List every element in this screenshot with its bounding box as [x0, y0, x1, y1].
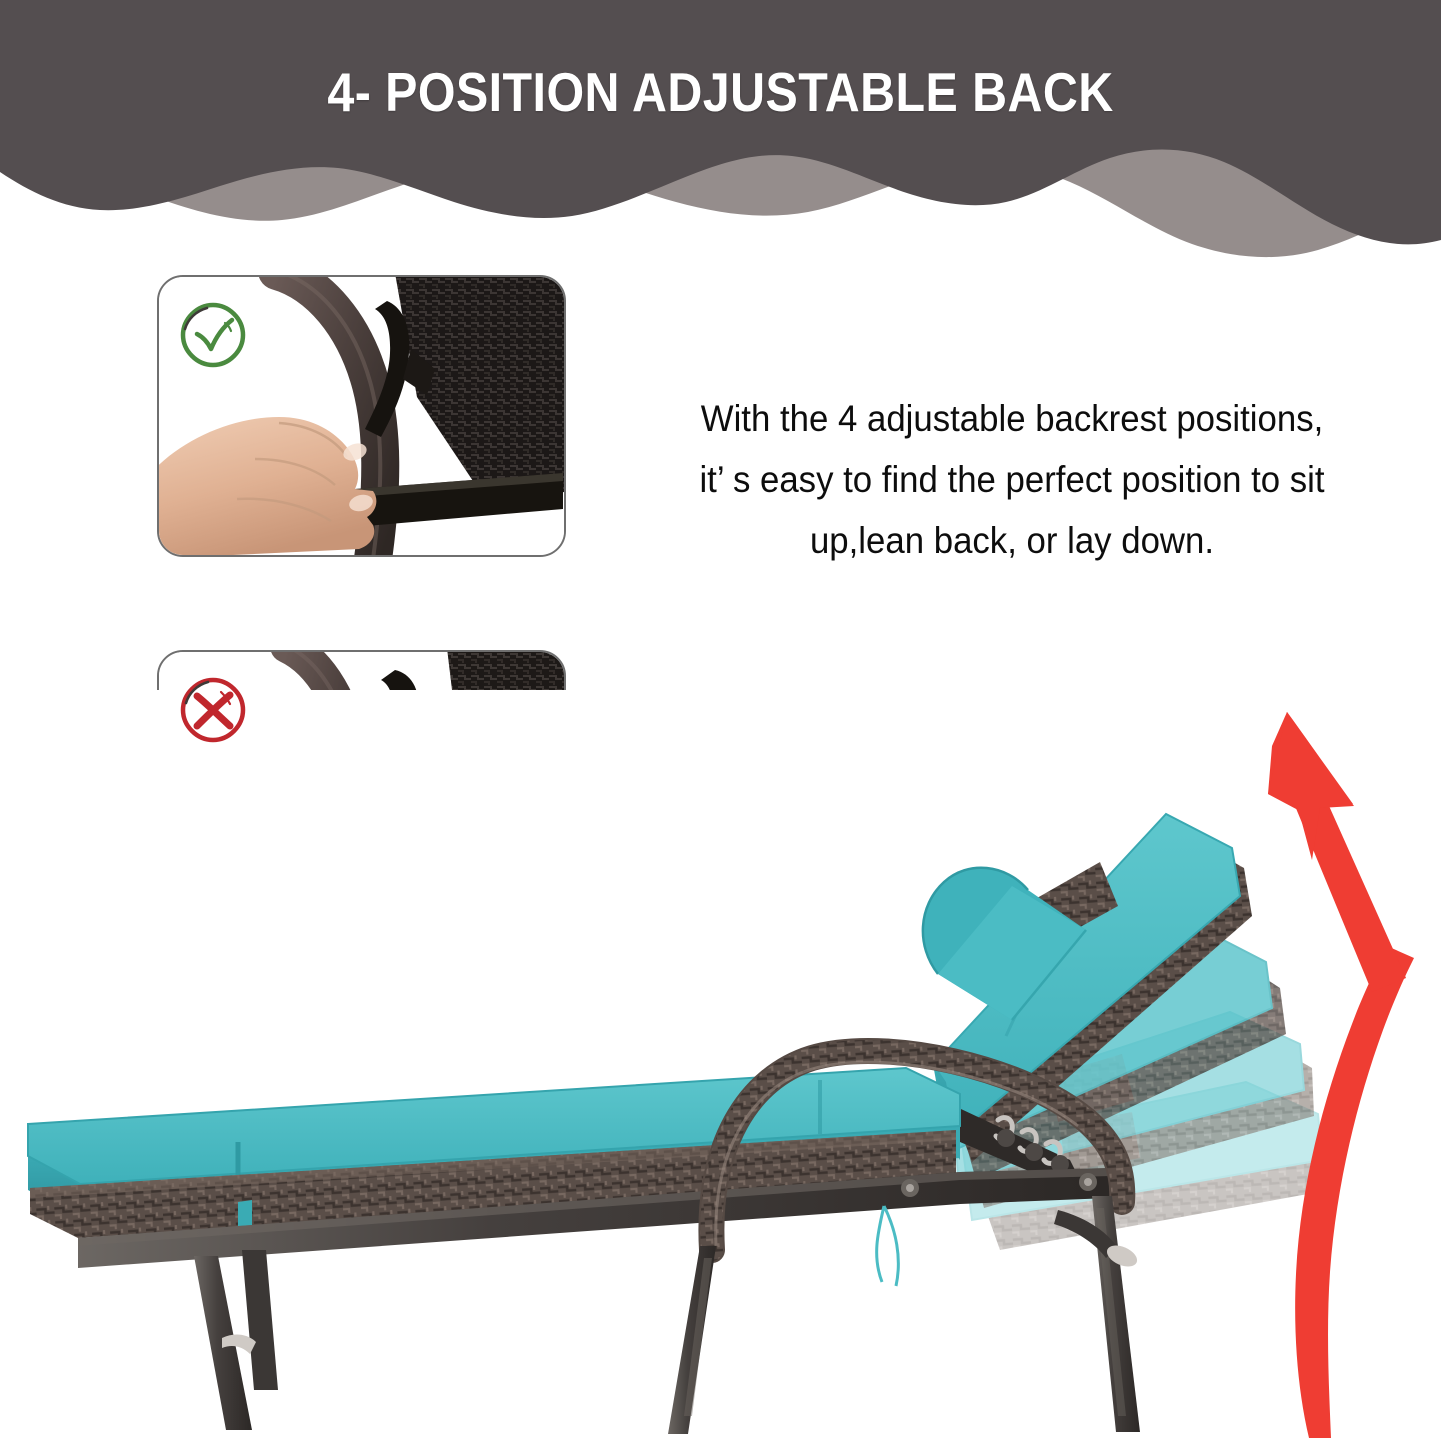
green-check-circle-icon — [177, 299, 249, 371]
frame-rivet — [1084, 1178, 1092, 1186]
description-line-3: up,lean back, or lay down. — [636, 510, 1388, 571]
reclining-wicker-chaise-lounge-illustration — [0, 690, 1441, 1441]
feature-description: With the 4 adjustable backrest positions… — [636, 388, 1388, 571]
header-banner: 4- POSITION ADJUSTABLE BACK — [0, 0, 1441, 260]
correct-usage-panel — [157, 275, 566, 557]
frame-rivet — [906, 1184, 914, 1192]
product-feature-infographic: 4- POSITION ADJUSTABLE BACK — [0, 0, 1441, 1441]
description-line-1: With the 4 adjustable backrest positions… — [636, 388, 1388, 449]
description-line-2: it’ s easy to find the perfect position … — [636, 449, 1388, 510]
red-x-circle-icon — [177, 674, 249, 746]
header-wave-background — [0, 0, 1441, 260]
page-title: 4- POSITION ADJUSTABLE BACK — [86, 62, 1354, 123]
